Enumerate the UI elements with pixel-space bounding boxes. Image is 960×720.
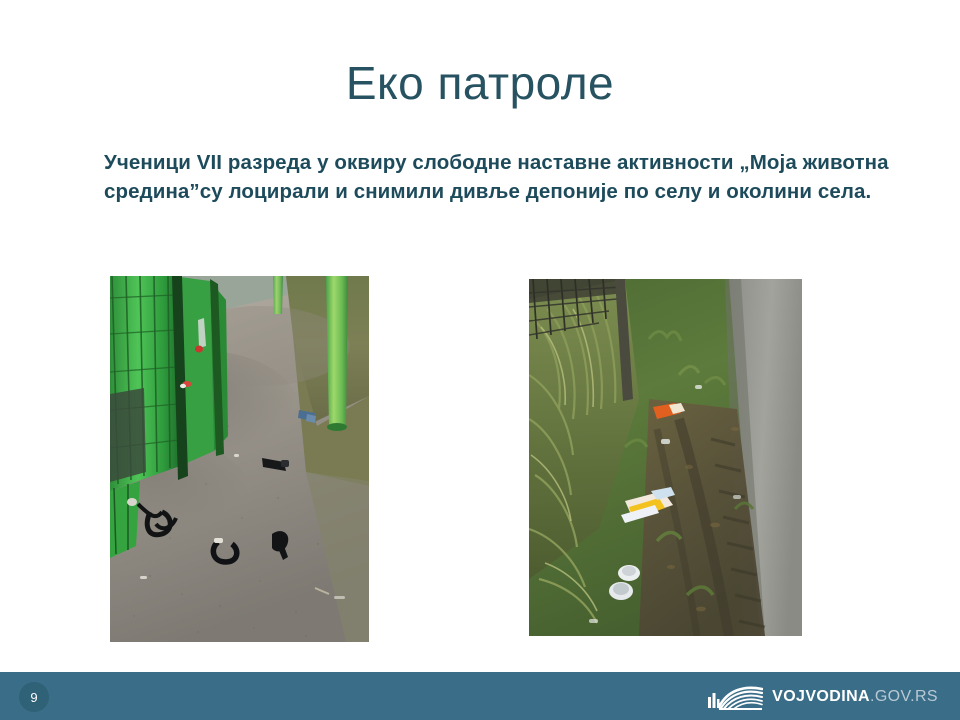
footer-logo-text: VOJVODINA.GOV.RS: [772, 688, 938, 706]
footer-logo[interactable]: VOJVODINA.GOV.RS: [707, 682, 938, 712]
photo-illegal-dump-sidewalk-image: [110, 276, 369, 642]
photo-illegal-dump-roadside-image: [529, 279, 802, 636]
page-number-badge: 9: [19, 682, 49, 712]
vojvodina-building-icon: [707, 684, 763, 710]
photo-illegal-dump-sidewalk: [110, 276, 369, 642]
footer-logo-brand: VOJVODINA: [772, 688, 870, 705]
slide-title: Еко патроле: [0, 58, 960, 109]
footer-logo-tld: .GOV.RS: [870, 688, 938, 705]
slide-body-text: Ученици VII разреда у оквиру слободне на…: [104, 148, 934, 206]
presentation-slide: Еко патроле Ученици VII разреда у оквиру…: [0, 0, 960, 720]
photo-illegal-dump-roadside: [529, 279, 802, 636]
